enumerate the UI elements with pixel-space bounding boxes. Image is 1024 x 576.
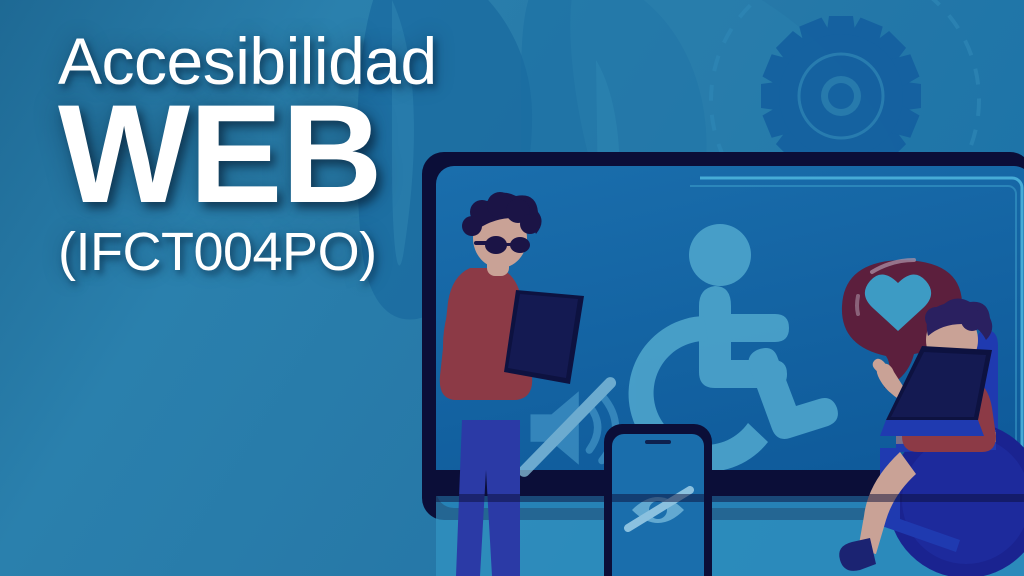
illustration-layer <box>0 0 1024 576</box>
accessibility-course-banner: Accesibilidad WEB (IFCT004PO) <box>0 0 1024 576</box>
desk-shadow <box>436 494 1024 502</box>
